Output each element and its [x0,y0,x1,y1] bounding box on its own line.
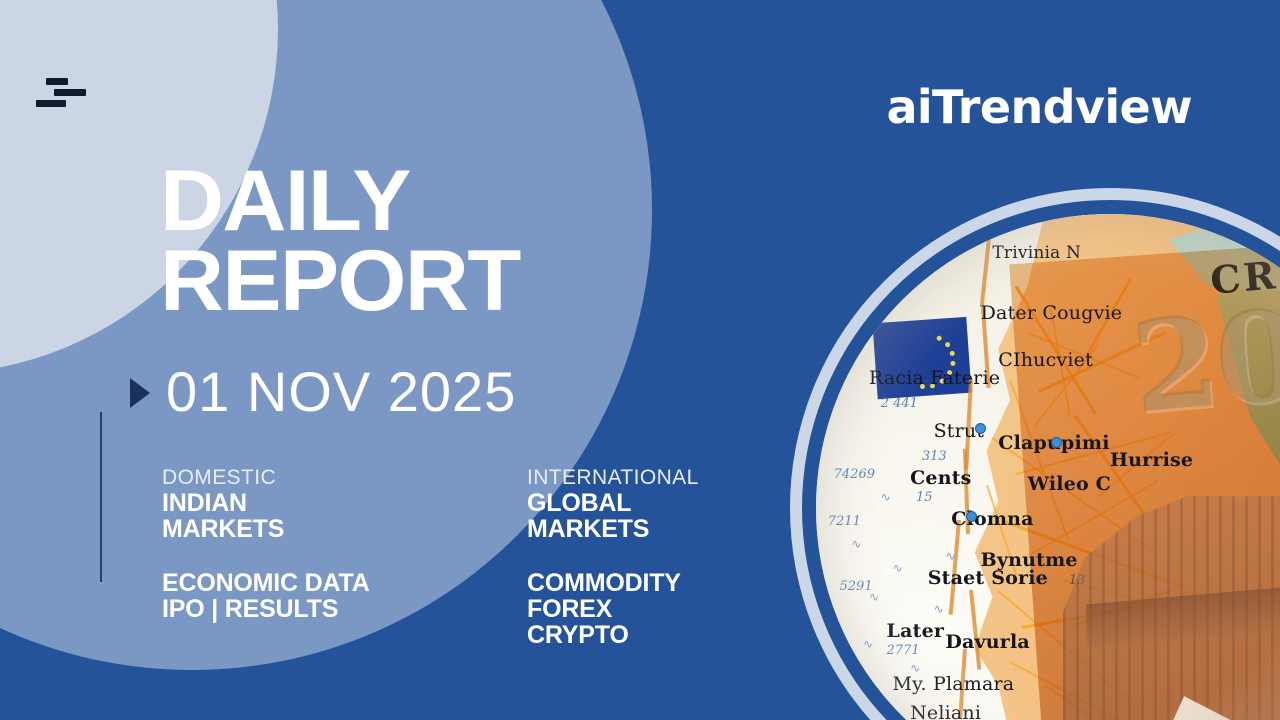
category-column-left: DOMESTICINDIANMARKETSECONOMIC DATAIPO | … [162,466,427,648]
play-triangle-icon [130,378,150,408]
category-line: CRYPTO [527,622,792,648]
category-line: MARKETS [162,516,427,542]
category-line: COMMODITY [527,570,792,596]
category-line: IPO | RESULTS [162,596,427,622]
report-date: 01 NOV 2025 [130,364,516,420]
category-group[interactable]: INTERNATIONALGLOBALMARKETS [527,466,792,542]
category-line: ECONOMIC DATA [162,570,427,596]
category-line: MARKETS [527,516,792,542]
category-columns: DOMESTICINDIANMARKETSECONOMIC DATAIPO | … [162,466,792,648]
category-line: FOREX [527,596,792,622]
page-title: DAILY REPORT [160,162,520,322]
logo-bar-top [46,78,68,85]
category-kicker: DOMESTIC [162,466,427,490]
page-title-line-2: REPORT [160,242,520,322]
page-title-line-1: DAILY [160,162,520,242]
category-line: GLOBAL [527,490,792,516]
report-date-label: 01 NOV 2025 [166,364,516,420]
hero-photo: 2 441742693131572115291277125413∿∿∿∿∿∿∿∿… [790,188,1280,720]
category-group[interactable]: COMMODITYFOREXCRYPTO [527,570,792,648]
logo-bar-middle [54,89,86,96]
category-column-right: INTERNATIONALGLOBALMARKETSCOMMODITYFOREX… [527,466,792,648]
stacked-bars-icon[interactable] [36,78,86,110]
category-kicker: INTERNATIONAL [527,466,792,490]
category-group[interactable]: DOMESTICINDIANMARKETS [162,466,427,542]
category-group[interactable]: ECONOMIC DATAIPO | RESULTS [162,570,427,622]
category-line: INDIAN [162,490,427,516]
logo-bar-bottom [36,100,66,107]
report-banner: aiTrendview DAILY REPORT 01 NOV 2025 DOM… [0,0,1280,720]
vertical-divider [100,412,102,582]
brand-wordmark[interactable]: aiTrendview [886,84,1192,130]
